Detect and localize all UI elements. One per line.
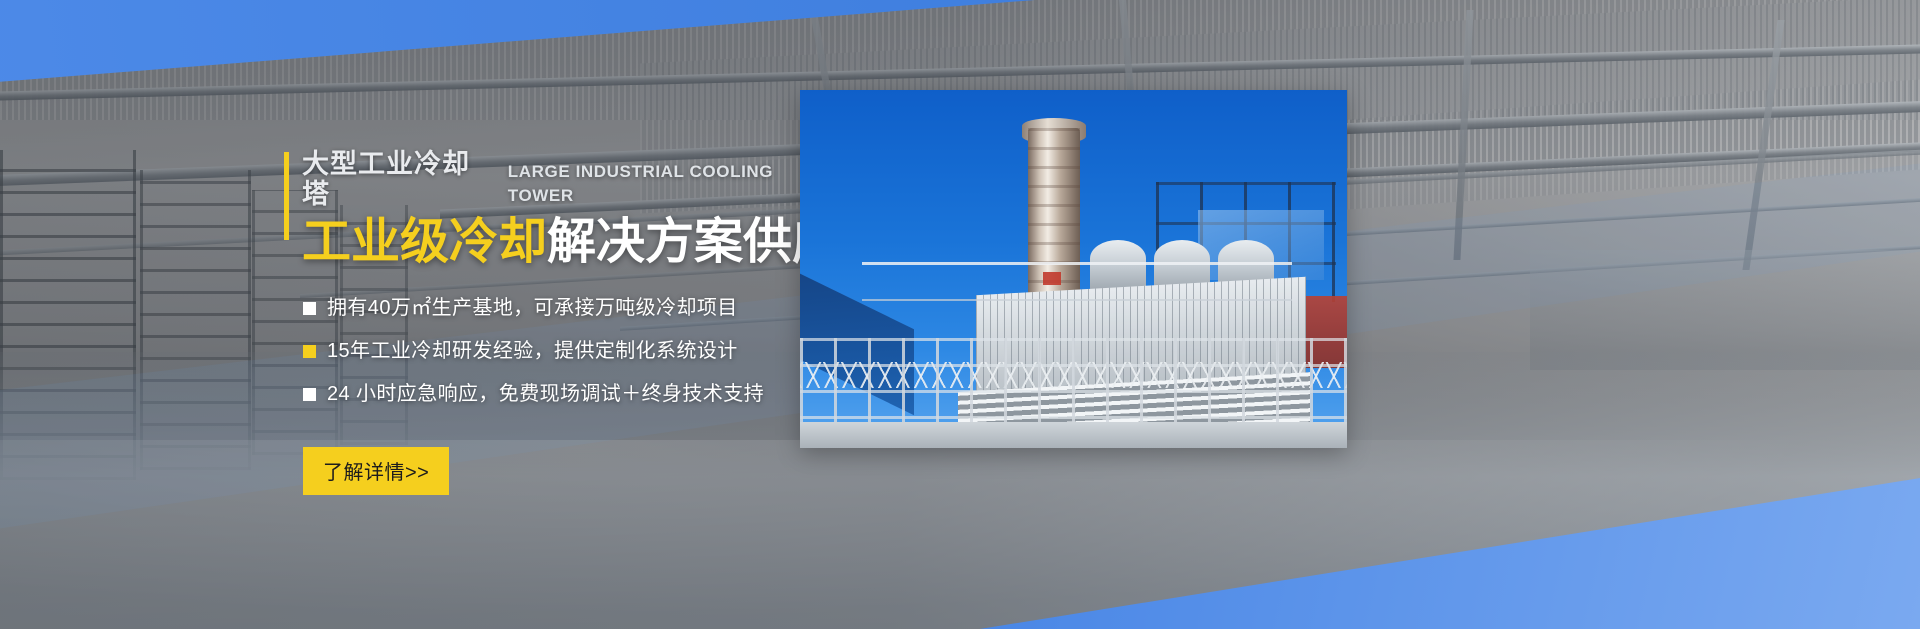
kicker-line: 大型工业冷却塔 LARGE INDUSTRIAL COOLING TOWER: [284, 150, 844, 209]
cooling-tower-product-photo: [800, 90, 1347, 448]
headline: 工业级冷却解决方案供应商: [284, 215, 844, 270]
ground-line: [800, 422, 1347, 448]
hero-banner: 大型工业冷却塔 LARGE INDUSTRIAL COOLING TOWER 工…: [0, 0, 1920, 629]
kicker-english: LARGE INDUSTRIAL COOLING TOWER: [508, 160, 844, 210]
list-item: 拥有40万㎡生产基地，可承接万吨级冷却项目: [303, 296, 844, 320]
square-bullet-icon: [303, 388, 316, 401]
list-item: 24 小时应急响应，免费现场调试＋终身技术支持: [303, 382, 844, 406]
learn-more-button[interactable]: 了解详情>>: [303, 447, 449, 495]
square-bullet-icon: [303, 302, 316, 315]
handrail: [862, 262, 1292, 301]
feature-list: 拥有40万㎡生产基地，可承接万吨级冷却项目 15年工业冷却研发经验，提供定制化系…: [284, 296, 844, 406]
feature-text: 15年工业冷却研发经验，提供定制化系统设计: [327, 339, 738, 363]
headline-highlight: 工业级冷却: [302, 215, 547, 269]
feature-text: 24 小时应急响应，免费现场调试＋终身技术支持: [327, 382, 764, 406]
list-item: 15年工业冷却研发经验，提供定制化系统设计: [303, 339, 844, 363]
feature-text: 拥有40万㎡生产基地，可承接万吨级冷却项目: [327, 296, 738, 320]
square-bullet-icon: [303, 345, 316, 358]
hero-content: 大型工业冷却塔 LARGE INDUSTRIAL COOLING TOWER 工…: [284, 150, 844, 495]
kicker-chinese: 大型工业冷却塔: [302, 150, 498, 209]
